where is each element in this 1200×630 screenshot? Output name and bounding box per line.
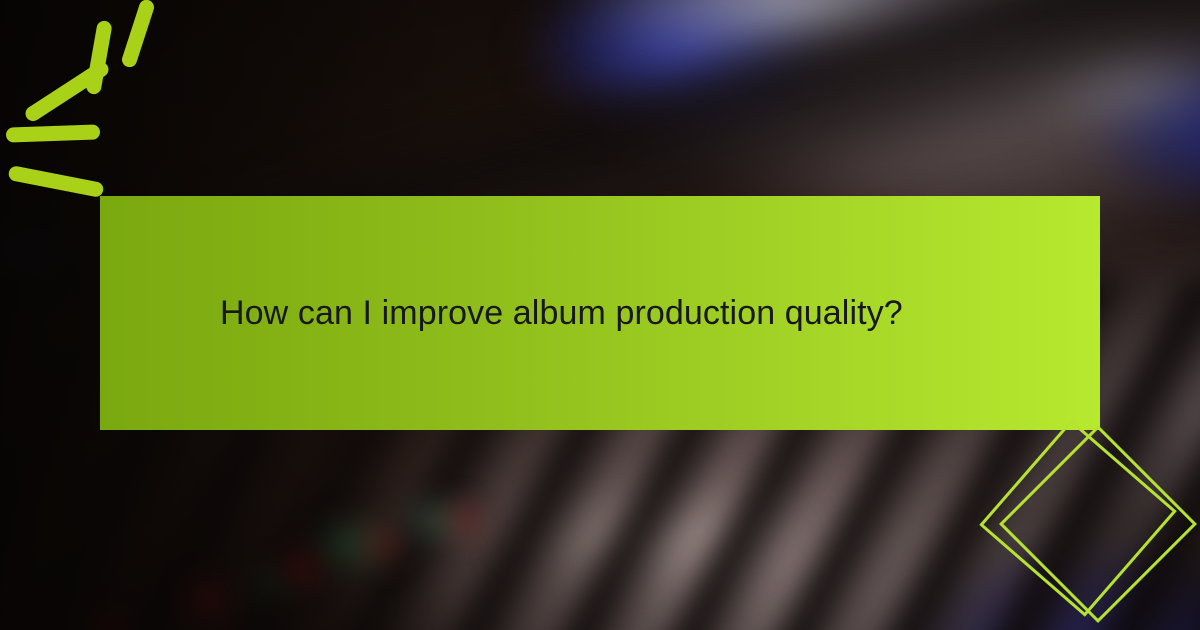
sparkle-ray [6, 124, 100, 142]
sparkle-ray [120, 0, 156, 69]
square-outline [999, 425, 1197, 623]
rotated-squares-decoration [990, 418, 1200, 630]
page-title: How can I improve album production quali… [220, 292, 903, 335]
sparkle-burst-icon [0, 0, 180, 150]
social-card: How can I improve album production quali… [0, 0, 1200, 630]
headline-banner: How can I improve album production quali… [100, 196, 1100, 430]
